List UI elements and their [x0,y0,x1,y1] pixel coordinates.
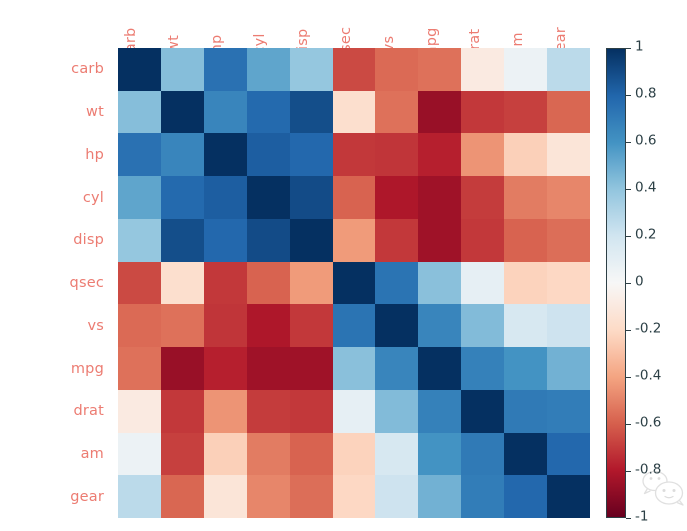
x-axis-tick-labels: carbwthpcyldispqsecvsmpgdratamgear [118,0,590,48]
heatmap-cell-disp-am [504,219,547,262]
y-tick-label-am: am [0,433,112,476]
heatmap-cell-drat-carb [118,390,161,433]
heatmap-cell-vs-gear [547,304,590,347]
colorbar-tick-text: 0.2 [635,229,656,243]
y-tick-label-drat: drat [0,390,112,433]
y-tick-label-cyl: cyl [0,176,112,219]
heatmap-cell-wt-mpg [418,91,461,134]
heatmap-cell-disp-carb [118,219,161,262]
heatmap-cell-drat-qsec [333,390,376,433]
heatmap-cell-am-mpg [418,433,461,476]
heatmap-cell-drat-vs [375,390,418,433]
heatmap-grid [118,48,590,518]
heatmap-cell-am-drat [461,433,504,476]
heatmap-cell-qsec-cyl [247,262,290,305]
y-tick-label-gear: gear [0,475,112,518]
heatmap-cell-hp-qsec [333,133,376,176]
heatmap-cell-gear-mpg [418,475,461,518]
heatmap-cell-vs-am [504,304,547,347]
heatmap-cell-cyl-mpg [418,176,461,219]
colorbar-tick-text: 0 [635,276,644,290]
heatmap-cell-disp-mpg [418,219,461,262]
heatmap-cell-drat-drat [461,390,504,433]
colorbar-tick-mark [626,142,631,143]
heatmap-cell-carb-vs [375,48,418,91]
colorbar-tick-text: 1 [635,41,644,55]
heatmap-cell-drat-gear [547,390,590,433]
heatmap-cell-cyl-gear [547,176,590,219]
x-tick-label-wt: wt [161,0,204,48]
x-tick-label-vs: vs [375,0,418,48]
heatmap-cell-gear-hp [204,475,247,518]
x-tick-label-cyl: cyl [247,0,290,48]
colorbar-tick-text: -0.8 [635,464,661,478]
x-tick-label-qsec: qsec [333,0,376,48]
heatmap-cell-mpg-wt [161,347,204,390]
colorbar-tick-text: -0.2 [635,323,661,337]
heatmap-cell-qsec-gear [547,262,590,305]
heatmap-cell-mpg-gear [547,347,590,390]
heatmap-cell-disp-gear [547,219,590,262]
heatmap-cell-cyl-drat [461,176,504,219]
heatmap-cell-qsec-carb [118,262,161,305]
heatmap-cell-drat-hp [204,390,247,433]
colorbar-tick-mark [626,95,631,96]
heatmap-cell-qsec-am [504,262,547,305]
heatmap-cell-am-wt [161,433,204,476]
colorbar-tick-mark [626,48,631,49]
heatmap-cell-wt-gear [547,91,590,134]
heatmap-cell-mpg-carb [118,347,161,390]
heatmap-cell-qsec-hp [204,262,247,305]
x-tick-label-mpg: mpg [418,0,461,48]
heatmap-cell-mpg-hp [204,347,247,390]
heatmap-cell-mpg-mpg [418,347,461,390]
heatmap-cell-carb-wt [161,48,204,91]
colorbar-tick-mark [626,330,631,331]
heatmap-cell-vs-disp [290,304,333,347]
heatmap-cell-am-hp [204,433,247,476]
heatmap-cell-vs-cyl [247,304,290,347]
heatmap-cell-drat-disp [290,390,333,433]
heatmap-cell-carb-mpg [418,48,461,91]
colorbar-tick-text: -0.6 [635,417,661,431]
heatmap-cell-vs-wt [161,304,204,347]
heatmap-cell-cyl-hp [204,176,247,219]
x-tick-label-drat: drat [461,0,504,48]
x-tick-label-gear: gear [547,0,590,48]
heatmap-cell-hp-wt [161,133,204,176]
heatmap-cell-wt-wt [161,91,204,134]
heatmap-cell-am-disp [290,433,333,476]
heatmap-cell-qsec-vs [375,262,418,305]
x-tick-label-hp: hp [204,0,247,48]
heatmap-cell-qsec-qsec [333,262,376,305]
heatmap-cell-drat-wt [161,390,204,433]
heatmap-cell-gear-am [504,475,547,518]
colorbar-tick-mark [626,377,631,378]
heatmap-cell-wt-hp [204,91,247,134]
colorbar-tick-text: 0.8 [635,88,656,102]
colorbar-tick-mark [626,424,631,425]
heatmap-cell-gear-gear [547,475,590,518]
heatmap-cell-cyl-qsec [333,176,376,219]
heatmap-cell-cyl-wt [161,176,204,219]
x-tick-label-carb: carb [118,0,161,48]
heatmap-cell-wt-carb [118,91,161,134]
x-tick-label-disp: disp [290,0,333,48]
heatmap-cell-carb-disp [290,48,333,91]
y-axis-tick-labels: carbwthpcyldispqsecvsmpgdratamgear [0,48,112,518]
heatmap-cell-am-cyl [247,433,290,476]
heatmap-cell-carb-hp [204,48,247,91]
y-tick-label-carb: carb [0,48,112,91]
heatmap-cell-hp-am [504,133,547,176]
heatmap-cell-cyl-am [504,176,547,219]
colorbar-tick-mark [626,283,631,284]
heatmap-cell-cyl-cyl [247,176,290,219]
heatmap-cell-mpg-disp [290,347,333,390]
heatmap-cell-qsec-mpg [418,262,461,305]
heatmap-cell-hp-drat [461,133,504,176]
heatmap-cell-hp-cyl [247,133,290,176]
heatmap-cell-wt-qsec [333,91,376,134]
colorbar [606,48,626,518]
heatmap-cell-carb-qsec [333,48,376,91]
heatmap-cell-gear-qsec [333,475,376,518]
heatmap-cell-drat-cyl [247,390,290,433]
heatmap-cell-am-am [504,433,547,476]
heatmap-cell-hp-mpg [418,133,461,176]
heatmap-cell-carb-am [504,48,547,91]
heatmap-cell-mpg-vs [375,347,418,390]
heatmap-cell-am-vs [375,433,418,476]
heatmap-cell-gear-cyl [247,475,290,518]
heatmap-cell-wt-disp [290,91,333,134]
heatmap-cell-qsec-disp [290,262,333,305]
colorbar-tick-text: -0.4 [635,370,661,384]
heatmap-cell-mpg-am [504,347,547,390]
heatmap-cell-hp-disp [290,133,333,176]
heatmap-cell-hp-gear [547,133,590,176]
colorbar-tick-text: 0.6 [635,135,656,149]
heatmap-cell-gear-drat [461,475,504,518]
colorbar-tick-mark [626,518,631,519]
heatmap-cell-cyl-disp [290,176,333,219]
heatmap-cell-hp-carb [118,133,161,176]
heatmap-cell-disp-vs [375,219,418,262]
y-tick-label-qsec: qsec [0,262,112,305]
heatmap-cell-cyl-vs [375,176,418,219]
heatmap-cell-vs-drat [461,304,504,347]
heatmap-cell-wt-am [504,91,547,134]
heatmap-cell-vs-vs [375,304,418,347]
heatmap-cell-qsec-drat [461,262,504,305]
y-tick-label-wt: wt [0,91,112,134]
heatmap-cell-gear-vs [375,475,418,518]
heatmap-cell-wt-vs [375,91,418,134]
heatmap-cell-gear-carb [118,475,161,518]
heatmap-cell-gear-disp [290,475,333,518]
x-tick-label-am: am [504,0,547,48]
y-tick-label-mpg: mpg [0,347,112,390]
heatmap-cell-carb-cyl [247,48,290,91]
heatmap-cell-carb-carb [118,48,161,91]
heatmap-cell-drat-am [504,390,547,433]
heatmap-cell-qsec-wt [161,262,204,305]
heatmap-cell-wt-drat [461,91,504,134]
heatmap-cell-mpg-cyl [247,347,290,390]
heatmap-cell-mpg-drat [461,347,504,390]
heatmap-cell-vs-qsec [333,304,376,347]
heatmap-cell-carb-drat [461,48,504,91]
heatmap-cell-am-carb [118,433,161,476]
y-tick-label-disp: disp [0,219,112,262]
colorbar-tick-labels: 10.80.60.40.20-0.2-0.4-0.6-0.8-1 [626,48,686,518]
heatmap-cell-vs-mpg [418,304,461,347]
colorbar-tick-mark [626,189,631,190]
heatmap-cell-disp-wt [161,219,204,262]
heatmap-cell-disp-cyl [247,219,290,262]
heatmap-cell-vs-hp [204,304,247,347]
heatmap-cell-disp-drat [461,219,504,262]
heatmap-cell-vs-carb [118,304,161,347]
heatmap-cell-disp-hp [204,219,247,262]
heatmap-cell-carb-gear [547,48,590,91]
heatmap-cell-gear-wt [161,475,204,518]
heatmap-cell-hp-vs [375,133,418,176]
heatmap-cell-cyl-carb [118,176,161,219]
heatmap-cell-drat-mpg [418,390,461,433]
heatmap-cell-mpg-qsec [333,347,376,390]
heatmap-cell-disp-disp [290,219,333,262]
correlation-heatmap-figure: carbwthpcyldispqsecvsmpgdratamgear carbw… [0,0,687,531]
heatmap-cell-disp-qsec [333,219,376,262]
heatmap-cell-am-qsec [333,433,376,476]
colorbar-tick-text: 0.4 [635,182,656,196]
colorbar-tick-mark [626,236,631,237]
colorbar-tick-mark [626,471,631,472]
heatmap-cell-am-gear [547,433,590,476]
y-tick-label-vs: vs [0,304,112,347]
heatmap-cell-wt-cyl [247,91,290,134]
y-tick-label-hp: hp [0,133,112,176]
colorbar-tick-text: -1 [635,511,648,525]
heatmap-cell-hp-hp [204,133,247,176]
colorbar-gradient [606,48,626,518]
